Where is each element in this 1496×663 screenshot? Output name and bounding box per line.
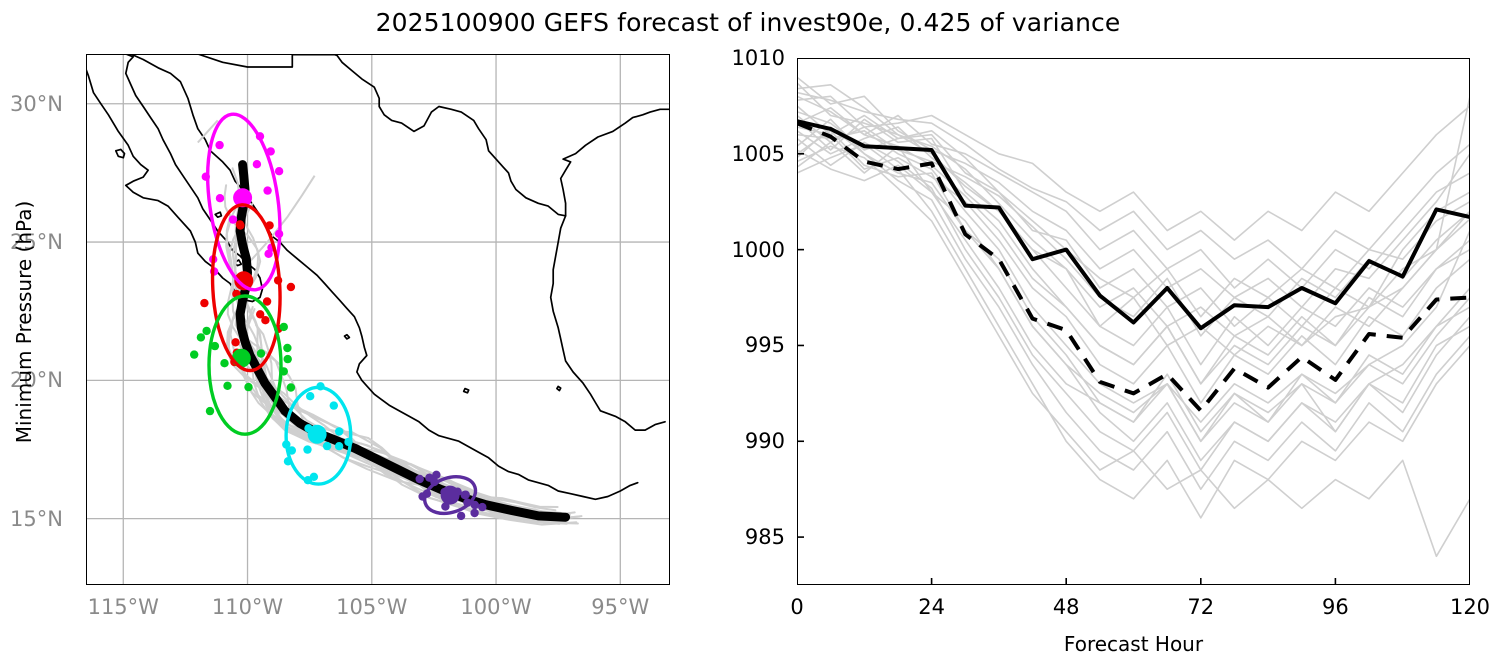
timeseries-y-tick: 985 xyxy=(745,525,785,549)
minimum-pressure-timeseries-panel xyxy=(797,58,1470,585)
timeseries-x-tick: 24 xyxy=(918,595,945,619)
timeseries-y-tick: 1010 xyxy=(732,46,785,70)
figure-title: 2025100900 GEFS forecast of invest90e, 0… xyxy=(0,8,1496,37)
map-y-tick: 30°N xyxy=(10,92,63,116)
map-axes-frame xyxy=(86,54,670,585)
timeseries-y-axis-label: Minimum Pressure (hPa) xyxy=(12,200,36,443)
timeseries-x-tick: 120 xyxy=(1450,595,1490,619)
timeseries-y-tick: 995 xyxy=(745,333,785,357)
map-x-tick: 110°W xyxy=(212,595,283,619)
timeseries-x-tick: 0 xyxy=(790,595,803,619)
timeseries-x-axis-label: Forecast Hour xyxy=(1064,632,1203,656)
map-y-tick: 15°N xyxy=(10,507,63,531)
map-x-tick: 100°W xyxy=(460,595,531,619)
timeseries-x-tick: 72 xyxy=(1187,595,1214,619)
timeseries-y-tick: 1000 xyxy=(732,238,785,262)
timeseries-x-tick: 48 xyxy=(1053,595,1080,619)
map-x-tick: 115°W xyxy=(88,595,159,619)
ensemble-track-map-panel xyxy=(86,54,670,585)
timeseries-axes-frame xyxy=(797,58,1470,585)
timeseries-y-tick: 990 xyxy=(745,429,785,453)
timeseries-x-tick: 96 xyxy=(1322,595,1349,619)
map-x-tick: 95°W xyxy=(591,595,649,619)
figure-canvas: 2025100900 GEFS forecast of invest90e, 0… xyxy=(0,0,1496,663)
map-x-tick: 105°W xyxy=(336,595,407,619)
timeseries-y-tick: 1005 xyxy=(732,142,785,166)
